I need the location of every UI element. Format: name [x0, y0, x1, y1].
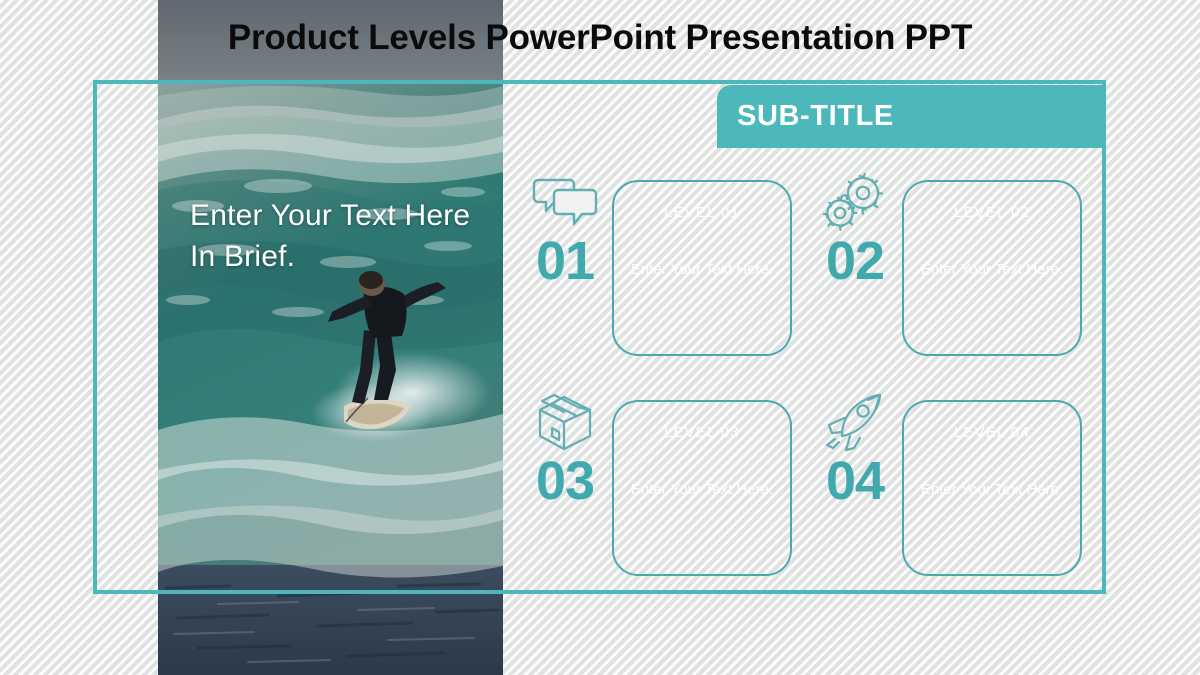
level-card-label-03: LEVEL 03: [664, 424, 740, 441]
level-card-body-03: Enter Your Text Here.: [627, 479, 777, 501]
level-card-body-02: Enter Your Text Here.: [917, 259, 1067, 281]
level-block-02[interactable]: 02 LEVEL 02 Enter Your Text Here.: [820, 172, 1082, 364]
level-card-03[interactable]: LEVEL 03 Enter Your Text Here.: [612, 400, 792, 576]
chat-bubbles-icon: [530, 172, 602, 234]
level-number-02: 02: [826, 234, 884, 288]
level-block-01[interactable]: 01 LEVEL 01 Enter Your Text Here.: [530, 172, 792, 364]
subtitle-banner: SUB-TITLE: [717, 85, 1106, 148]
level-block-03[interactable]: 03 LEVEL 03 Enter Your Text Here.: [530, 392, 792, 584]
level-card-02[interactable]: LEVEL 02 Enter Your Text Here.: [902, 180, 1082, 356]
page-title: Product Levels PowerPoint Presentation P…: [0, 18, 1200, 58]
level-number-04: 04: [826, 454, 884, 508]
level-number-01: 01: [536, 234, 594, 288]
box-package-icon: [530, 392, 602, 454]
level-card-label-04: LEVEL 04: [954, 424, 1030, 441]
level-card-04[interactable]: LEVEL 04 Enter Your Text Here.: [902, 400, 1082, 576]
level-block-04[interactable]: 04 LEVEL 04 Enter Your Text Here.: [820, 392, 1082, 584]
gears-icon: [820, 172, 892, 234]
level-card-body-04: Enter Your Text Here.: [917, 479, 1067, 501]
level-card-01[interactable]: LEVEL 01 Enter Your Text Here.: [612, 180, 792, 356]
subtitle-text: SUB-TITLE: [737, 100, 894, 133]
rocket-icon: [820, 392, 892, 454]
level-card-label-02: LEVEL 02: [954, 204, 1030, 221]
level-number-03: 03: [536, 454, 594, 508]
level-card-body-01: Enter Your Text Here.: [627, 259, 777, 281]
level-card-label-01: LEVEL 01: [664, 204, 740, 221]
